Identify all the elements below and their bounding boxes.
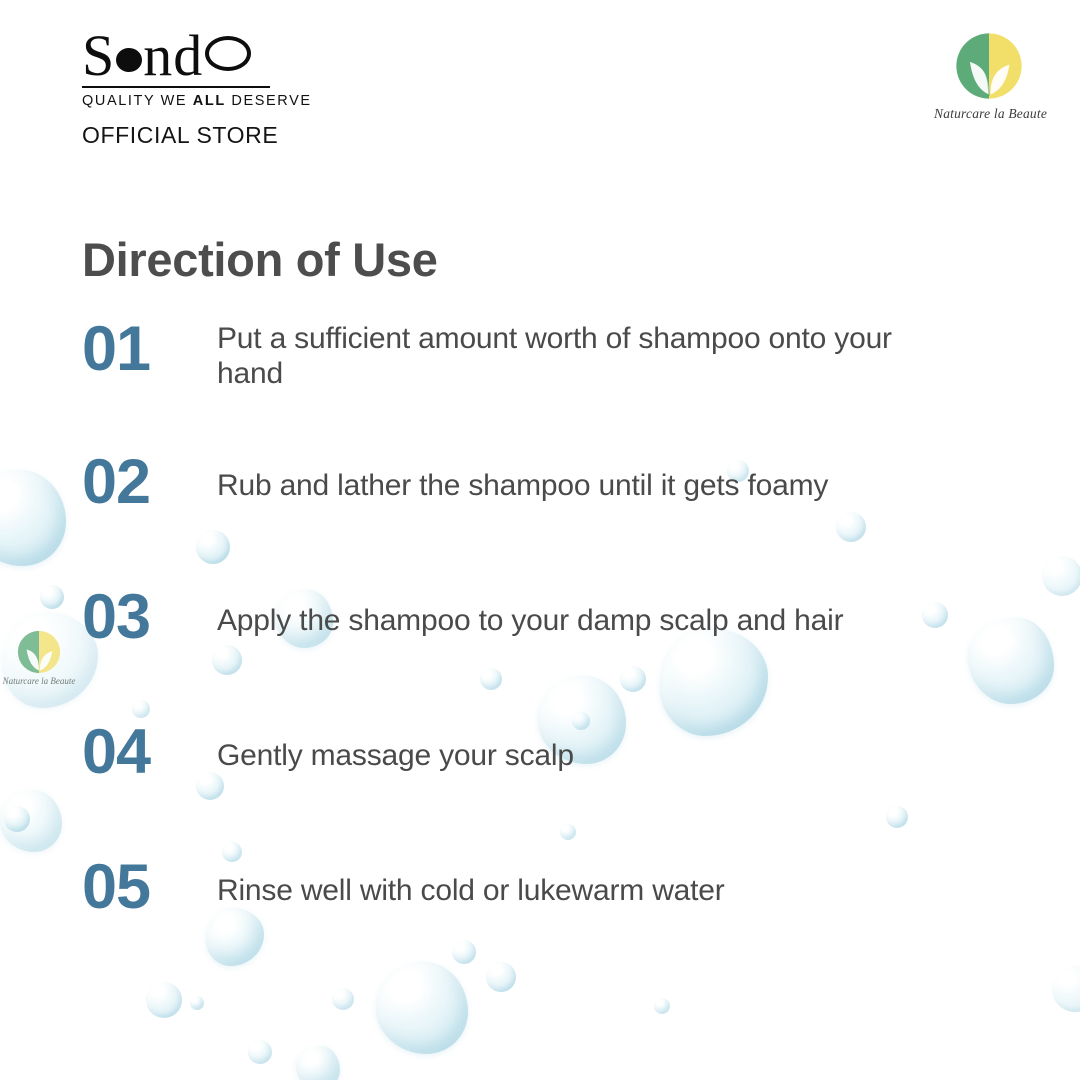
brand-logo: Snd QUALITY WE ALL DESERVE OFFICIAL STOR… <box>82 28 312 149</box>
tagline-suffix: DESERVE <box>226 93 312 109</box>
step-number: 05 <box>82 856 217 919</box>
step-item: 03Apply the shampoo to your damp scalp a… <box>82 586 1042 721</box>
step-item: 01Put a sufficient amount worth of shamp… <box>82 316 1042 451</box>
official-store-label: OFFICIAL STORE <box>82 122 312 149</box>
partner-logo-caption: Naturcare la Beaute <box>934 106 1044 122</box>
bubble <box>1052 966 1080 1012</box>
wordmark-s: S <box>82 28 115 83</box>
wordmark-e-glyph <box>116 48 142 72</box>
watermark-logo-caption: Naturcare la Beaute <box>0 676 82 686</box>
brand-tagline: QUALITY WE ALL DESERVE <box>82 93 312 109</box>
steps-list: 01Put a sufficient amount worth of shamp… <box>82 316 1042 991</box>
step-item: 02Rub and lather the shampoo until it ge… <box>82 451 1042 586</box>
step-number: 03 <box>82 586 217 649</box>
bubble <box>296 1046 340 1080</box>
bubble <box>40 585 64 609</box>
bubble <box>0 790 62 852</box>
wordmark-o-glyph <box>205 36 251 71</box>
step-text: Put a sufficient amount worth of shampoo… <box>217 316 917 392</box>
leaf-circle-icon-watermark <box>17 630 61 674</box>
leaf-circle-icon <box>955 32 1023 100</box>
bubble <box>4 806 30 832</box>
step-number: 01 <box>82 316 217 381</box>
wordmark-n: n <box>143 28 173 83</box>
step-text: Rinse well with cold or lukewarm water <box>217 856 1042 909</box>
tagline-prefix: QUALITY WE <box>82 93 193 109</box>
wordmark-d: d <box>173 28 203 83</box>
step-text: Apply the shampoo to your damp scalp and… <box>217 586 1042 639</box>
poster-canvas: Snd QUALITY WE ALL DESERVE OFFICIAL STOR… <box>0 0 1080 1080</box>
bubble <box>654 998 670 1014</box>
partner-logo: Naturcare la Beaute <box>934 32 1044 122</box>
page-title: Direction of Use <box>82 232 438 287</box>
tagline-emphasis: ALL <box>193 93 226 109</box>
watermark-logo: Naturcare la Beaute <box>0 630 82 686</box>
step-number: 02 <box>82 451 217 514</box>
bubble <box>248 1040 272 1064</box>
bubble <box>0 470 66 566</box>
step-text: Rub and lather the shampoo until it gets… <box>217 451 1042 504</box>
bubble <box>1042 556 1080 596</box>
bubble <box>332 988 354 1010</box>
step-item: 05Rinse well with cold or lukewarm water <box>82 856 1042 991</box>
bubble <box>190 996 204 1010</box>
step-number: 04 <box>82 721 217 784</box>
brand-wordmark: Snd <box>82 28 312 83</box>
step-text: Gently massage your scalp <box>217 721 1042 774</box>
step-item: 04Gently massage your scalp <box>82 721 1042 856</box>
